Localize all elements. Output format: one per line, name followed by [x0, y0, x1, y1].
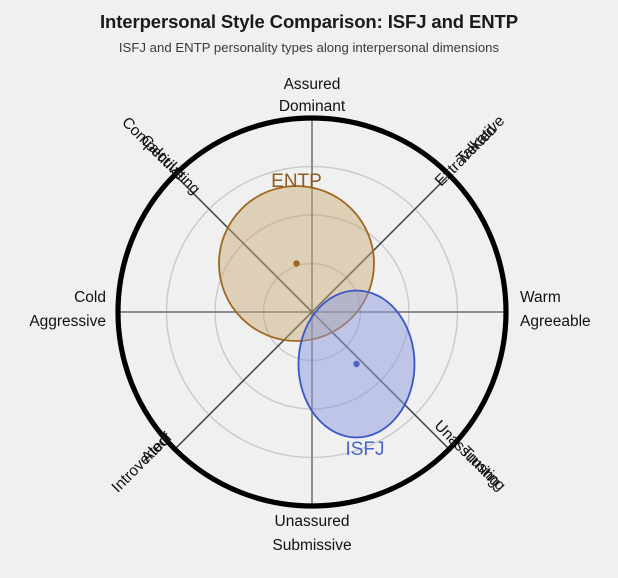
axis-label-left-line2: Aggressive — [29, 313, 106, 330]
axis-label-top-right-line2: Extraverted — [432, 122, 500, 190]
axis-label-top-line1: Assured — [284, 76, 341, 93]
circumplex-plot: ENTP ISFJ Assured Dominant Talkative Ext… — [0, 0, 618, 578]
axis-label-bottom-right-line2: Trusting — [458, 443, 509, 494]
axis-label-bottom-line1: Unassured — [275, 513, 350, 530]
axis-label-left-line1: Cold — [74, 289, 106, 306]
axis-label-right-line2: Agreeable — [520, 313, 591, 330]
axis-label-right-line1: Warm — [520, 289, 561, 306]
circumplex-chart: Interpersonal Style Comparison: ISFJ and… — [0, 0, 618, 578]
series-label-entp: ENTP — [271, 171, 322, 192]
isfj-center-point — [353, 361, 359, 367]
axis-label-top-line2: Dominant — [279, 98, 346, 115]
entp-center-point — [293, 260, 299, 266]
axis-label-bottom-left-line2: Introverted — [109, 432, 173, 496]
series-ellipse-isfj[interactable] — [299, 291, 415, 438]
series-label-isfj: ISFJ — [345, 439, 384, 460]
axis-label-top-left-line2: Calculating — [137, 132, 203, 198]
axis-label-bottom-line2: Submissive — [272, 537, 351, 554]
